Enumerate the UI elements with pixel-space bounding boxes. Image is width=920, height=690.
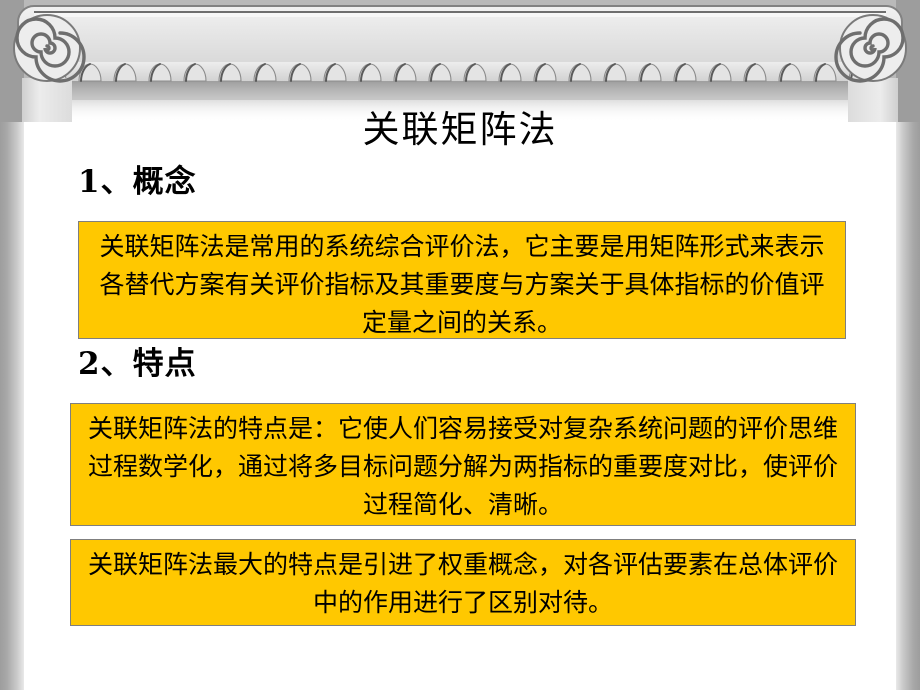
callout-box-characteristics-1: 关联矩阵法的特点是：它使人们容易接受对复杂系统问题的评价思维过程数学化，通过将多…	[70, 403, 856, 526]
page-title: 关联矩阵法	[110, 108, 810, 152]
section-heading-concept: 1、概念	[78, 163, 197, 201]
callout-text: 关联矩阵法最大的特点是引进了权重概念，对各评估要素在总体评价中的作用进行了区别对…	[81, 546, 845, 622]
callout-box-concept: 关联矩阵法是常用的系统综合评价法，它主要是用矩阵形式来表示各替代方案有关评价指标…	[78, 221, 846, 339]
slide-content: 关联矩阵法 1、概念 关联矩阵法是常用的系统综合评价法，它主要是用矩阵形式来表示…	[0, 0, 920, 690]
callout-box-characteristics-2: 关联矩阵法最大的特点是引进了权重概念，对各评估要素在总体评价中的作用进行了区别对…	[70, 539, 856, 626]
presentation-slide: 关联矩阵法 1、概念 关联矩阵法是常用的系统综合评价法，它主要是用矩阵形式来表示…	[0, 0, 920, 690]
callout-text: 关联矩阵法的特点是：它使人们容易接受对复杂系统问题的评价思维过程数学化，通过将多…	[81, 410, 845, 524]
section-heading-characteristics: 2、特点	[78, 345, 197, 383]
callout-text: 关联矩阵法是常用的系统综合评价法，它主要是用矩阵形式来表示各替代方案有关评价指标…	[89, 228, 835, 342]
